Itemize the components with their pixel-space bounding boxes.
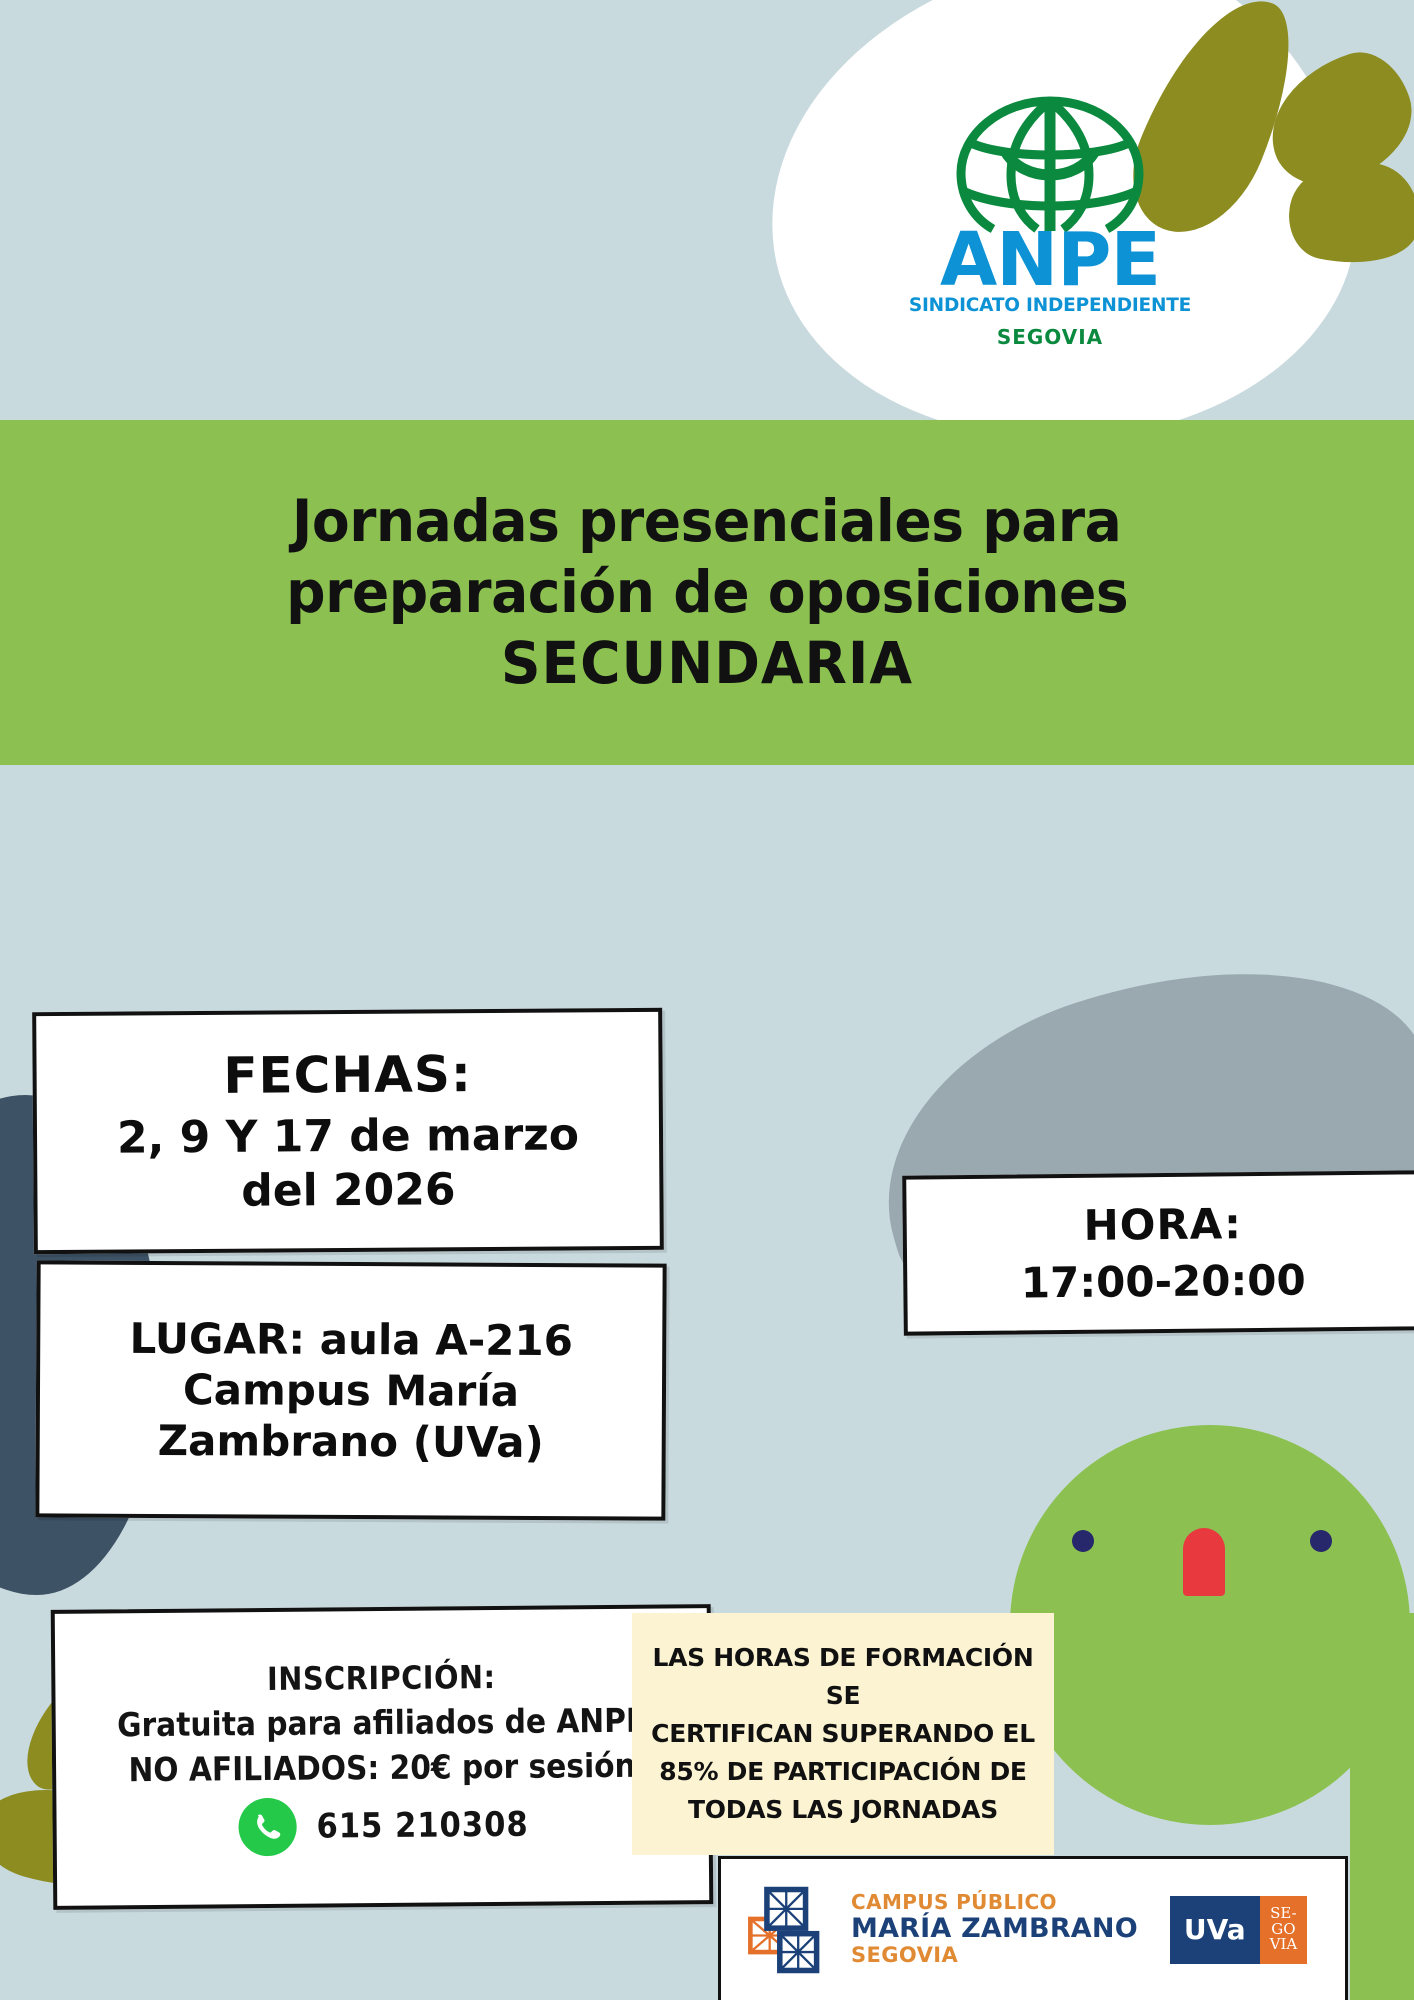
green-edge-strip: [1350, 1613, 1414, 2000]
uva-badge: UVa SE- GO VIA: [1170, 1896, 1307, 1964]
globe-icon: [945, 95, 1155, 235]
venue-line-3: Zambrano (UVa): [158, 1415, 544, 1468]
anpe-logo: ANPE SINDICATO INDEPENDIENTE SEGOVIA: [905, 95, 1195, 349]
venue-box: LUGAR: aula A-216 Campus María Zambrano …: [35, 1260, 666, 1520]
bird-eye-right-icon: [1310, 1530, 1332, 1552]
registration-heading: INSCRIPCIÓN:: [267, 1656, 496, 1702]
title-band: Jornadas presenciales para preparación d…: [0, 420, 1414, 765]
bird-eye-left-icon: [1072, 1530, 1094, 1552]
time-value: 17:00-20:00: [1021, 1255, 1306, 1309]
page-title-line-3: SECUNDARIA: [501, 628, 913, 699]
registration-box: INSCRIPCIÓN: Gratuita para afiliados de …: [51, 1604, 714, 1910]
uva-footer-bar: CAMPUS PÚBLICO MARÍA ZAMBRANO SEGOVIA UV…: [718, 1856, 1348, 2000]
certification-line-2: CERTIFICAN SUPERANDO EL: [651, 1715, 1035, 1753]
time-heading: HORA:: [1083, 1198, 1242, 1251]
dates-heading: FECHAS:: [223, 1044, 472, 1107]
whatsapp-icon[interactable]: [236, 1795, 299, 1858]
certification-box: LAS HORAS DE FORMACIÓN SE CERTIFICAN SUP…: [632, 1613, 1054, 1855]
uva-line-2: MARÍA ZAMBRANO: [851, 1914, 1138, 1944]
uva-badge-segovia: SE- GO VIA: [1260, 1896, 1308, 1964]
certification-line-4: TODAS LAS JORNADAS: [688, 1791, 998, 1829]
uva-line-1: CAMPUS PÚBLICO: [851, 1891, 1138, 1913]
phone-row: 615 210308: [236, 1793, 529, 1858]
uva-text-block: CAMPUS PÚBLICO MARÍA ZAMBRANO SEGOVIA: [851, 1891, 1138, 1967]
anpe-subtitle: SINDICATO INDEPENDIENTE: [905, 295, 1195, 316]
venue-line-1: LUGAR: aula A-216: [129, 1312, 573, 1366]
campus-windows-icon: [743, 1884, 835, 1976]
certification-line-1: LAS HORAS DE FORMACIÓN SE: [644, 1639, 1042, 1715]
registration-line-2: NO AFILIADOS: 20€ por sesión: [128, 1744, 636, 1793]
registration-phone[interactable]: 615 210308: [316, 1801, 529, 1849]
anpe-city: SEGOVIA: [905, 325, 1195, 349]
anpe-wordmark: ANPE: [905, 229, 1195, 293]
page-title-line-2: preparación de oposiciones: [286, 557, 1128, 628]
dates-box: FECHAS: 2, 9 Y 17 de marzo del 2026: [32, 1008, 664, 1254]
page-title-line-1: Jornadas presenciales para: [292, 486, 1122, 557]
dates-line-1: 2, 9 Y 17 de marzo: [117, 1108, 579, 1165]
bird-beak-icon: [1183, 1528, 1225, 1596]
poster-canvas: ANPE SINDICATO INDEPENDIENTE SEGOVIA Jor…: [0, 0, 1414, 2000]
certification-line-3: 85% DE PARTICIPACIÓN DE: [659, 1753, 1026, 1791]
uva-line-3: SEGOVIA: [851, 1944, 1138, 1968]
venue-line-2: Campus María: [183, 1364, 519, 1417]
time-box: HORA: 17:00-20:00: [902, 1170, 1414, 1335]
uva-badge-main: UVa: [1170, 1896, 1260, 1964]
registration-line-1: Gratuita para afiliados de ANPE: [117, 1699, 646, 1748]
dates-line-2: del 2026: [241, 1163, 456, 1218]
uva-badge-sub-3: VIA: [1270, 1937, 1298, 1953]
